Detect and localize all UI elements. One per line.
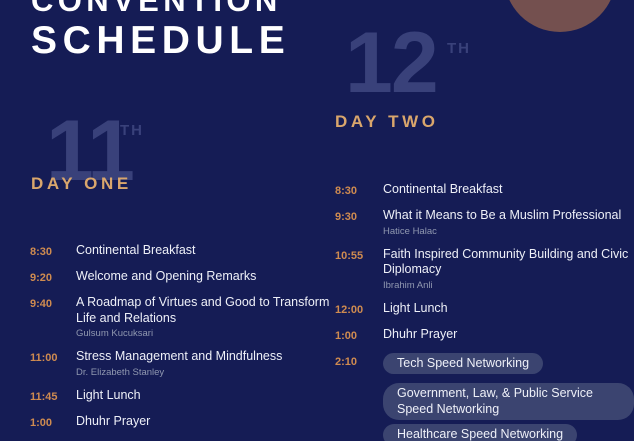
schedule-row-body: A Roadmap of Virtues and Good to Transfo…	[76, 295, 330, 340]
speed-networking-pill[interactable]: Tech Speed Networking	[383, 353, 543, 375]
day-one-ordinal-suffix: TH	[120, 122, 144, 139]
schedule-row-body: Faith Inspired Community Building and Ci…	[383, 247, 634, 292]
schedule-row: 11:00Stress Management and MindfulnessDr…	[0, 349, 330, 379]
schedule-row-title: Dhuhr Prayer	[76, 414, 330, 430]
schedule-row-body: Tech Speed Networking	[383, 353, 634, 379]
decorative-circle	[504, 0, 616, 32]
schedule-row-title: A Roadmap of Virtues and Good to Transfo…	[76, 295, 330, 326]
schedule-row-title: Continental Breakfast	[383, 182, 634, 198]
day-two-ghost-number: 12	[345, 20, 437, 106]
speed-networking-pill-wrapper: Healthcare Speed Networking	[383, 424, 634, 441]
schedule-row-time: 9:30	[335, 208, 383, 225]
poster-title-line-1: CONVENTION	[31, 0, 371, 18]
poster-masthead: CONVENTION SCHEDULE	[31, 0, 371, 64]
day-two-header: 12 TH DAY TWO	[330, 30, 634, 102]
schedule-row-body: What it Means to Be a Muslim Professiona…	[383, 208, 634, 238]
schedule-row-body: Light Lunch	[76, 388, 330, 404]
schedule-row: 12:00Light Lunch	[330, 301, 634, 318]
schedule-row-time: 11:00	[30, 349, 76, 366]
schedule-row-time: 1:00	[335, 327, 383, 344]
schedule-row-title: Welcome and Opening Remarks	[76, 269, 330, 285]
speed-networking-pill-wrapper: Government, Law, & Public Service Speed …	[383, 383, 634, 424]
schedule-row-body: Dhuhr Prayer	[76, 414, 330, 430]
schedule-row-speaker: Ibrahim Anli	[383, 279, 634, 292]
schedule-row: 9:40A Roadmap of Virtues and Good to Tra…	[0, 295, 330, 340]
schedule-row-title: Stress Management and Mindfulness	[76, 349, 330, 365]
schedule-row-title: What it Means to Be a Muslim Professiona…	[383, 208, 634, 224]
schedule-row-time: 8:30	[335, 182, 383, 199]
schedule-row-speaker: Gulsum Kucuksari	[76, 327, 330, 340]
schedule-row: 10:55Faith Inspired Community Building a…	[330, 247, 634, 292]
schedule-row-time: 12:00	[335, 301, 383, 318]
schedule-row-speaker: Hatice Halac	[383, 225, 634, 238]
schedule-row: 1:00Dhuhr Prayer	[0, 414, 330, 431]
schedule-row-title: Light Lunch	[383, 301, 634, 317]
speed-networking-pill[interactable]: Government, Law, & Public Service Speed …	[383, 383, 634, 420]
day-one-label: DAY ONE	[31, 174, 132, 194]
day-two-schedule-list: 8:30Continental Breakfast9:30What it Mea…	[330, 182, 634, 441]
schedule-row-body: Stress Management and MindfulnessDr. Eli…	[76, 349, 330, 379]
schedule-row: 9:20Welcome and Opening Remarks	[0, 269, 330, 286]
schedule-row: 1:00Dhuhr Prayer	[330, 327, 634, 344]
schedule-row-title: Dhuhr Prayer	[383, 327, 634, 343]
schedule-row: 8:30Continental Breakfast	[0, 243, 330, 260]
schedule-row-speaker: Dr. Elizabeth Stanley	[76, 366, 330, 379]
day-one-header: 11 TH DAY ONE	[0, 118, 330, 190]
speed-networking-pill[interactable]: Healthcare Speed Networking	[383, 424, 577, 441]
schedule-row-time: 8:30	[30, 243, 76, 260]
convention-schedule-poster: CONVENTION SCHEDULE 11 TH DAY ONE 12 TH …	[0, 0, 634, 441]
schedule-row-body: Continental Breakfast	[76, 243, 330, 259]
schedule-row-body: Dhuhr Prayer	[383, 327, 634, 343]
schedule-row-time: 1:00	[30, 414, 76, 431]
schedule-row-title: Faith Inspired Community Building and Ci…	[383, 247, 634, 278]
schedule-row-title: Continental Breakfast	[76, 243, 330, 259]
schedule-row: 8:30Continental Breakfast	[330, 182, 634, 199]
schedule-row-body: Continental Breakfast	[383, 182, 634, 198]
schedule-row-time: 11:45	[30, 388, 76, 405]
schedule-row-time: 9:40	[30, 295, 76, 312]
schedule-row-time: 10:55	[335, 247, 383, 264]
day-two-ordinal-suffix: TH	[447, 40, 471, 57]
schedule-row: 9:30What it Means to Be a Muslim Profess…	[330, 208, 634, 238]
schedule-row: 2:10Tech Speed Networking	[330, 353, 634, 379]
poster-title-line-2: SCHEDULE	[31, 18, 371, 64]
schedule-row: 11:45Light Lunch	[0, 388, 330, 405]
schedule-row-body: Welcome and Opening Remarks	[76, 269, 330, 285]
day-two-label: DAY TWO	[335, 112, 439, 132]
schedule-row-time: 9:20	[30, 269, 76, 286]
schedule-row-title: Light Lunch	[76, 388, 330, 404]
schedule-row-time: 2:10	[335, 353, 383, 370]
schedule-row-body: Light Lunch	[383, 301, 634, 317]
day-one-schedule-list: 8:30Continental Breakfast9:20Welcome and…	[0, 243, 330, 440]
